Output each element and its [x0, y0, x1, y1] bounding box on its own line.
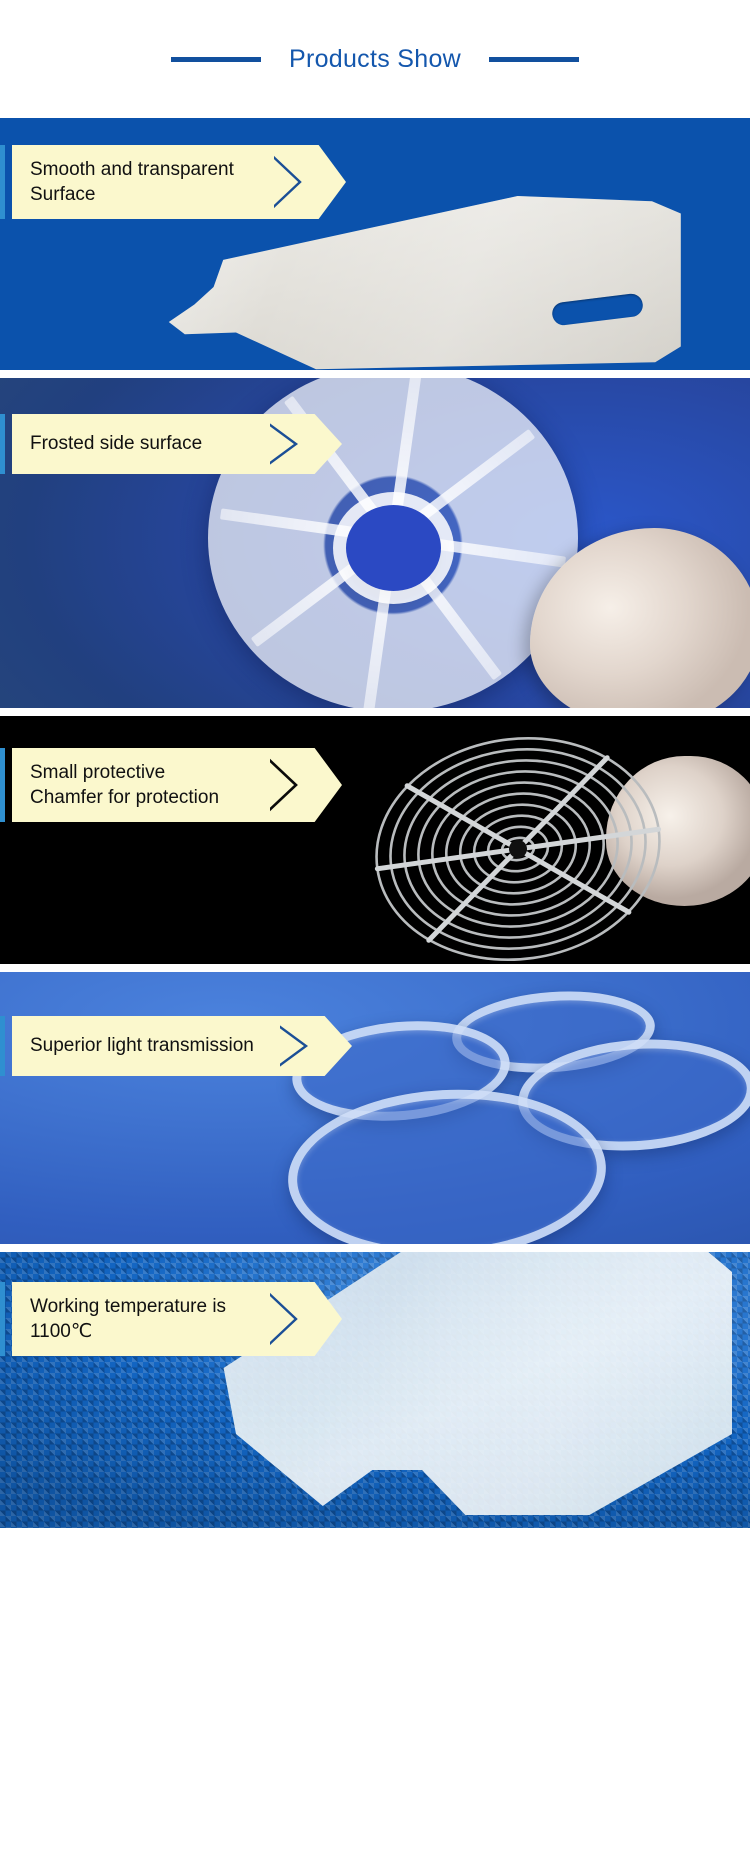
- banner-body: Superior light transmission: [12, 1016, 280, 1076]
- panel-banner-1: Smooth and transparent Surface: [0, 145, 346, 219]
- blade-sheen: [60, 196, 700, 370]
- header-rule-right: [489, 57, 579, 62]
- banner-arrow-head: [280, 1016, 352, 1076]
- banner-body: Smooth and transparent Surface: [12, 145, 274, 219]
- banner-label-text: Superior light transmission: [30, 1033, 254, 1058]
- product-panel-light-transmission[interactable]: Superior light transmission: [0, 972, 750, 1244]
- banner-arrow-head: [274, 145, 346, 219]
- blade-slot-hole: [550, 292, 643, 326]
- banner-label-text: Smooth and transparent Surface: [30, 157, 234, 207]
- banner-label-text: Working temperature is 1100℃: [30, 1294, 226, 1344]
- page-header: Products Show: [0, 0, 750, 118]
- banner-accent-bar: [0, 748, 5, 822]
- product-panel-frosted-side[interactable]: Frosted side surface: [0, 378, 750, 708]
- banner-body: Working temperature is 1100℃: [12, 1282, 270, 1356]
- panel-banner-4: Superior light transmission: [0, 1016, 352, 1076]
- banner-accent-bar: [0, 414, 5, 474]
- banner-arrow-head: [270, 414, 342, 474]
- banner-arrow-head: [270, 748, 342, 822]
- page-title: Products Show: [289, 45, 461, 74]
- disc-center-hub: [346, 505, 441, 591]
- ceramic-blade-shape: [60, 196, 700, 370]
- banner-arrow-head: [270, 1282, 342, 1356]
- product-panel-smooth-surface[interactable]: Smooth and transparent Surface: [0, 118, 750, 370]
- header-rule-left: [171, 57, 261, 62]
- banner-label-text: Frosted side surface: [30, 431, 202, 456]
- products-show-page: Products Show Smooth and transparent Sur…: [0, 0, 750, 1528]
- panel-banner-3: Small protective Chamfer for protection: [0, 748, 342, 822]
- banner-body: Frosted side surface: [12, 414, 270, 474]
- product-panel-protective-chamfer[interactable]: Small protective Chamfer for protection: [0, 716, 750, 964]
- banner-accent-bar: [0, 1016, 5, 1076]
- banner-accent-bar: [0, 1282, 5, 1356]
- ceramic-grid-disc: [353, 716, 682, 964]
- product-photo-discs: [0, 972, 750, 1244]
- banner-accent-bar: [0, 145, 5, 219]
- banner-body: Small protective Chamfer for protection: [12, 748, 270, 822]
- banner-label-text: Small protective Chamfer for protection: [30, 760, 219, 810]
- product-panel-working-temperature[interactable]: Working temperature is 1100℃: [0, 1252, 750, 1528]
- panel-banner-5: Working temperature is 1100℃: [0, 1282, 342, 1356]
- panel-banner-2: Frosted side surface: [0, 414, 342, 474]
